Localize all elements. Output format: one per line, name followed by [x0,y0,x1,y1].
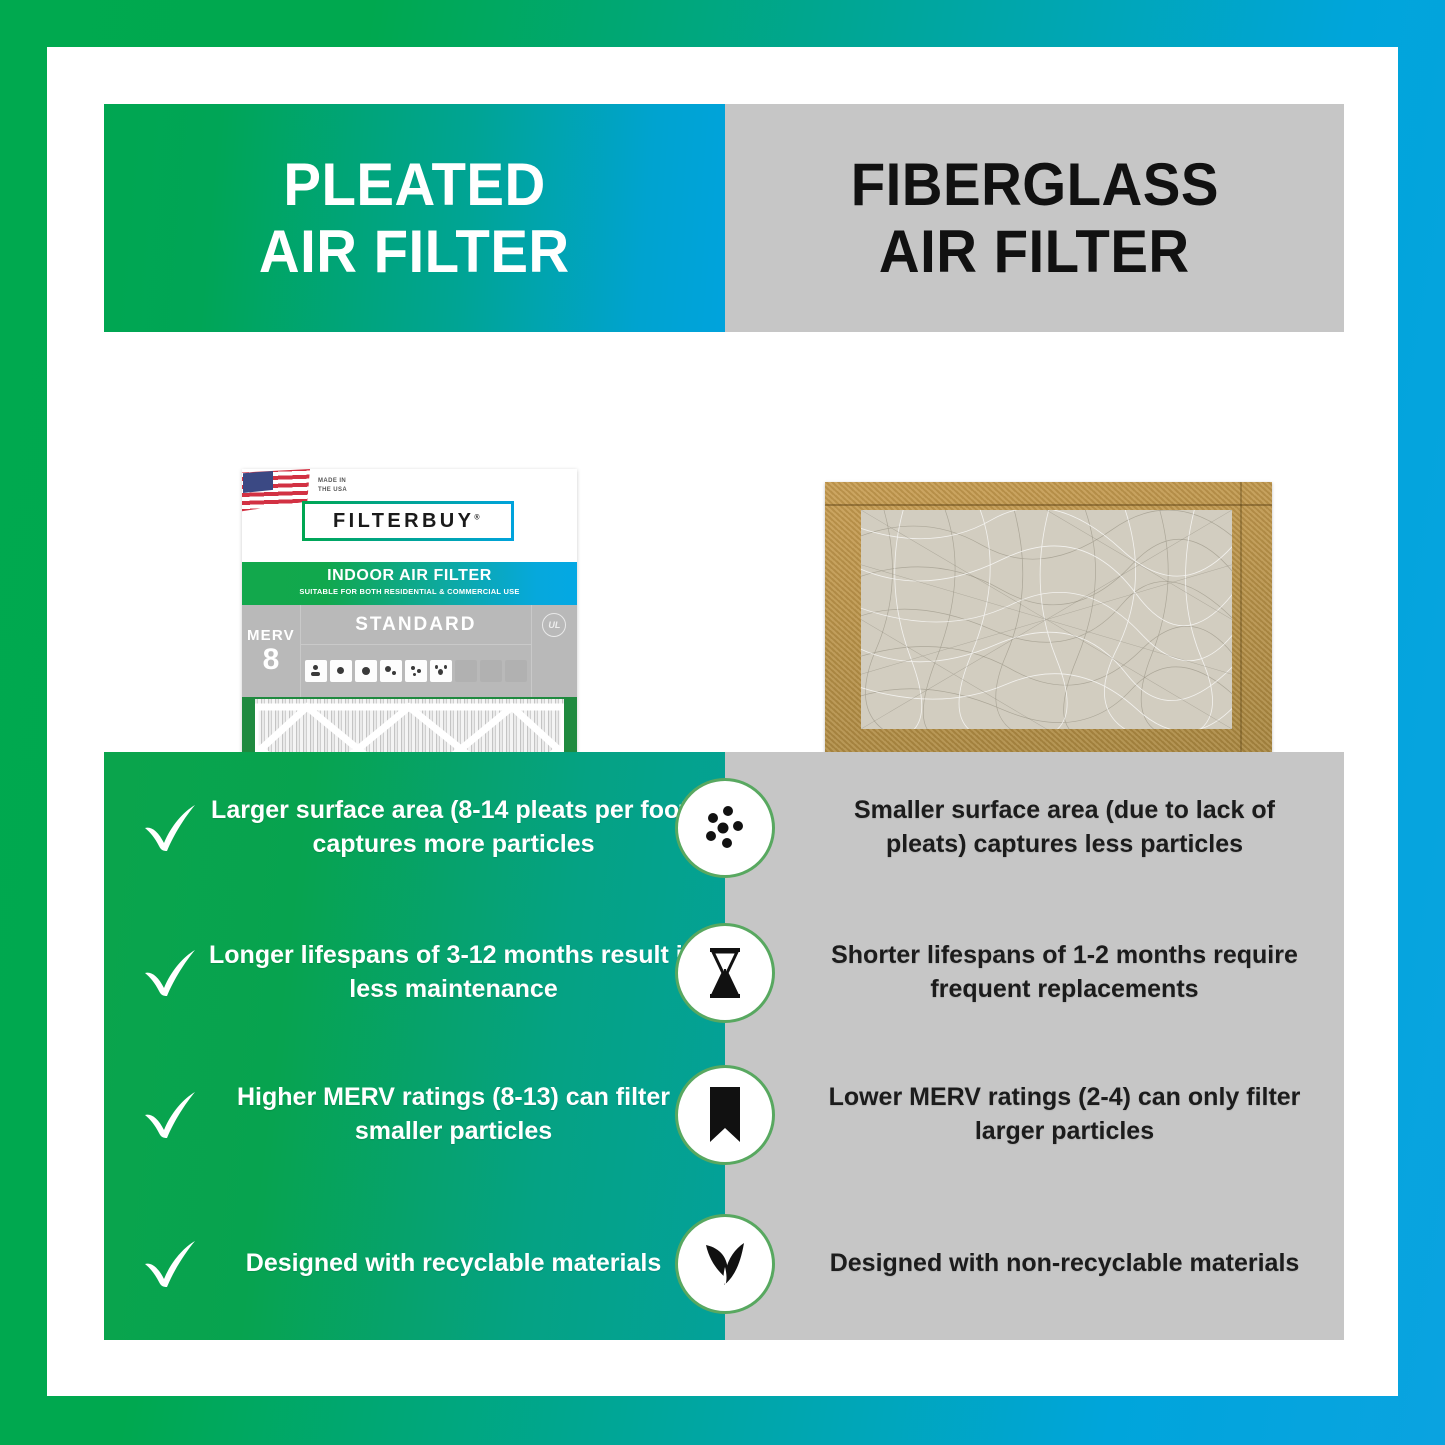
product-image-strip: MADE IN THE USA FILTERBUY® INDOOR AIR FI… [104,332,1344,752]
header-pleated-line1: PLEATED [283,151,545,218]
cardboard-seam-vertical [1240,482,1242,765]
header-fiberglass-line2: AIR FILTER [879,218,1190,285]
benefit-row-1-pleated-text: Larger surface area (8-14 pleats per foo… [206,794,701,862]
trademark-symbol: ® [474,514,483,521]
checkmark-icon [134,802,206,854]
header-band: PLEATED AIR FILTER FIBERGLASS AIR FILTER [104,104,1344,332]
lint-icon [405,660,427,682]
ul-certification-icon: UL [542,613,566,637]
benefit-row-1-icon-wrap [675,778,775,878]
smoke-icon [455,660,477,682]
spec-middle: STANDARD [301,605,531,697]
benefit-row-4-icon-wrap [675,1214,775,1314]
band-subtitle: SUITABLE FOR BOTH RESIDENTIAL & COMMERCI… [242,587,577,596]
benefit-row-3-pleated-text: Higher MERV ratings (8-13) can filter sm… [206,1081,701,1149]
infographic-page: PLEATED AIR FILTER FIBERGLASS AIR FILTER [0,0,1445,1445]
benefit-row-3-fiberglass-text: Lower MERV ratings (2-4) can only filter… [815,1081,1314,1149]
benefit-row-1-pleated: Larger surface area (8-14 pleats per foo… [104,794,725,862]
inner-white-frame: PLEATED AIR FILTER FIBERGLASS AIR FILTER [47,47,1398,1396]
leaf-icon [675,1214,775,1314]
dust-lint-icon [305,660,327,682]
filterbuy-logo-text: FILTERBUY® [333,510,483,533]
bacteria-icon [480,660,502,682]
merv-value: 8 [263,645,280,675]
header-fiberglass-line1: FIBERGLASS [850,151,1218,218]
usa-flag-icon [242,469,310,513]
benefit-row-4-fiberglass-text: Designed with non-recyclable materials [830,1247,1300,1281]
header-pleated-line2: AIR FILTER [259,218,570,285]
benefit-row-2-pleated: Longer lifespans of 3-12 months result i… [104,939,725,1007]
filterbuy-logo-box: FILTERBUY® [302,501,514,541]
bookmark-icon [675,1065,775,1165]
virus-icon [505,660,527,682]
mold-icon [380,660,402,682]
benefit-row-2: Longer lifespans of 3-12 months result i… [104,904,1344,1042]
checkmark-icon [134,1089,206,1141]
benefit-row-2-icon-wrap [675,923,775,1023]
benefit-row-2-fiberglass-text: Shorter lifespans of 1-2 months require … [815,939,1314,1007]
pet-dander-icon [430,660,452,682]
benefit-row-4: Designed with recyclable materials De [104,1187,1344,1340]
benefit-row-2-fiberglass: Shorter lifespans of 1-2 months require … [725,939,1344,1007]
pleated-package-top: MADE IN THE USA FILTERBUY® [242,469,577,562]
certification-area: UL [531,605,577,697]
header-pleated: PLEATED AIR FILTER [104,104,725,332]
pleated-spec-strip: MERV 8 STANDARD [242,605,577,697]
benefit-row-2-pleated-text: Longer lifespans of 3-12 months result i… [206,939,701,1007]
header-fiberglass: FIBERGLASS AIR FILTER [725,104,1344,332]
hourglass-icon [675,923,775,1023]
made-in-line1: MADE IN [318,477,347,486]
benefit-row-4-fiberglass: Designed with non-recyclable materials [725,1247,1344,1281]
pollen-icon [355,660,377,682]
band-title: INDOOR AIR FILTER [242,567,577,585]
benefit-row-1-fiberglass: Smaller surface area (due to lack of ple… [725,794,1344,862]
indoor-air-filter-band: INDOOR AIR FILTER SUITABLE FOR BOTH RESI… [242,562,577,605]
benefit-row-3: Higher MERV ratings (8-13) can filter sm… [104,1042,1344,1187]
merv-label: MERV [247,627,295,644]
checkmark-icon [134,1238,206,1290]
benefit-row-3-pleated: Higher MERV ratings (8-13) can filter sm… [104,1081,725,1149]
benefit-row-4-pleated-text: Designed with recyclable materials [206,1247,701,1281]
particles-icon [675,778,775,878]
benefit-row-1-fiberglass-text: Smaller surface area (due to lack of ple… [815,794,1314,862]
benefit-row-3-fiberglass: Lower MERV ratings (2-4) can only filter… [725,1081,1344,1149]
comparison-canvas: PLEATED AIR FILTER FIBERGLASS AIR FILTER [104,104,1344,1340]
benefit-row-1: Larger surface area (8-14 pleats per foo… [104,752,1344,904]
benefit-row-3-icon-wrap [675,1065,775,1165]
made-in-usa-label: MADE IN THE USA [318,477,347,495]
benefit-rows: Larger surface area (8-14 pleats per foo… [104,752,1344,1340]
dust-mites-icon [330,660,352,682]
fiberglass-filter-product-image [825,482,1272,765]
checkmark-icon [134,947,206,999]
captured-particle-icons [301,645,531,697]
cardboard-seam-horizontal [825,504,1272,506]
benefit-row-4-pleated: Designed with recyclable materials [104,1238,725,1290]
grade-label: STANDARD [301,605,531,645]
flag-canton [243,471,273,493]
merv-badge: MERV 8 [242,605,301,697]
fiberglass-mesh [861,510,1232,729]
made-in-line2: THE USA [318,486,347,495]
